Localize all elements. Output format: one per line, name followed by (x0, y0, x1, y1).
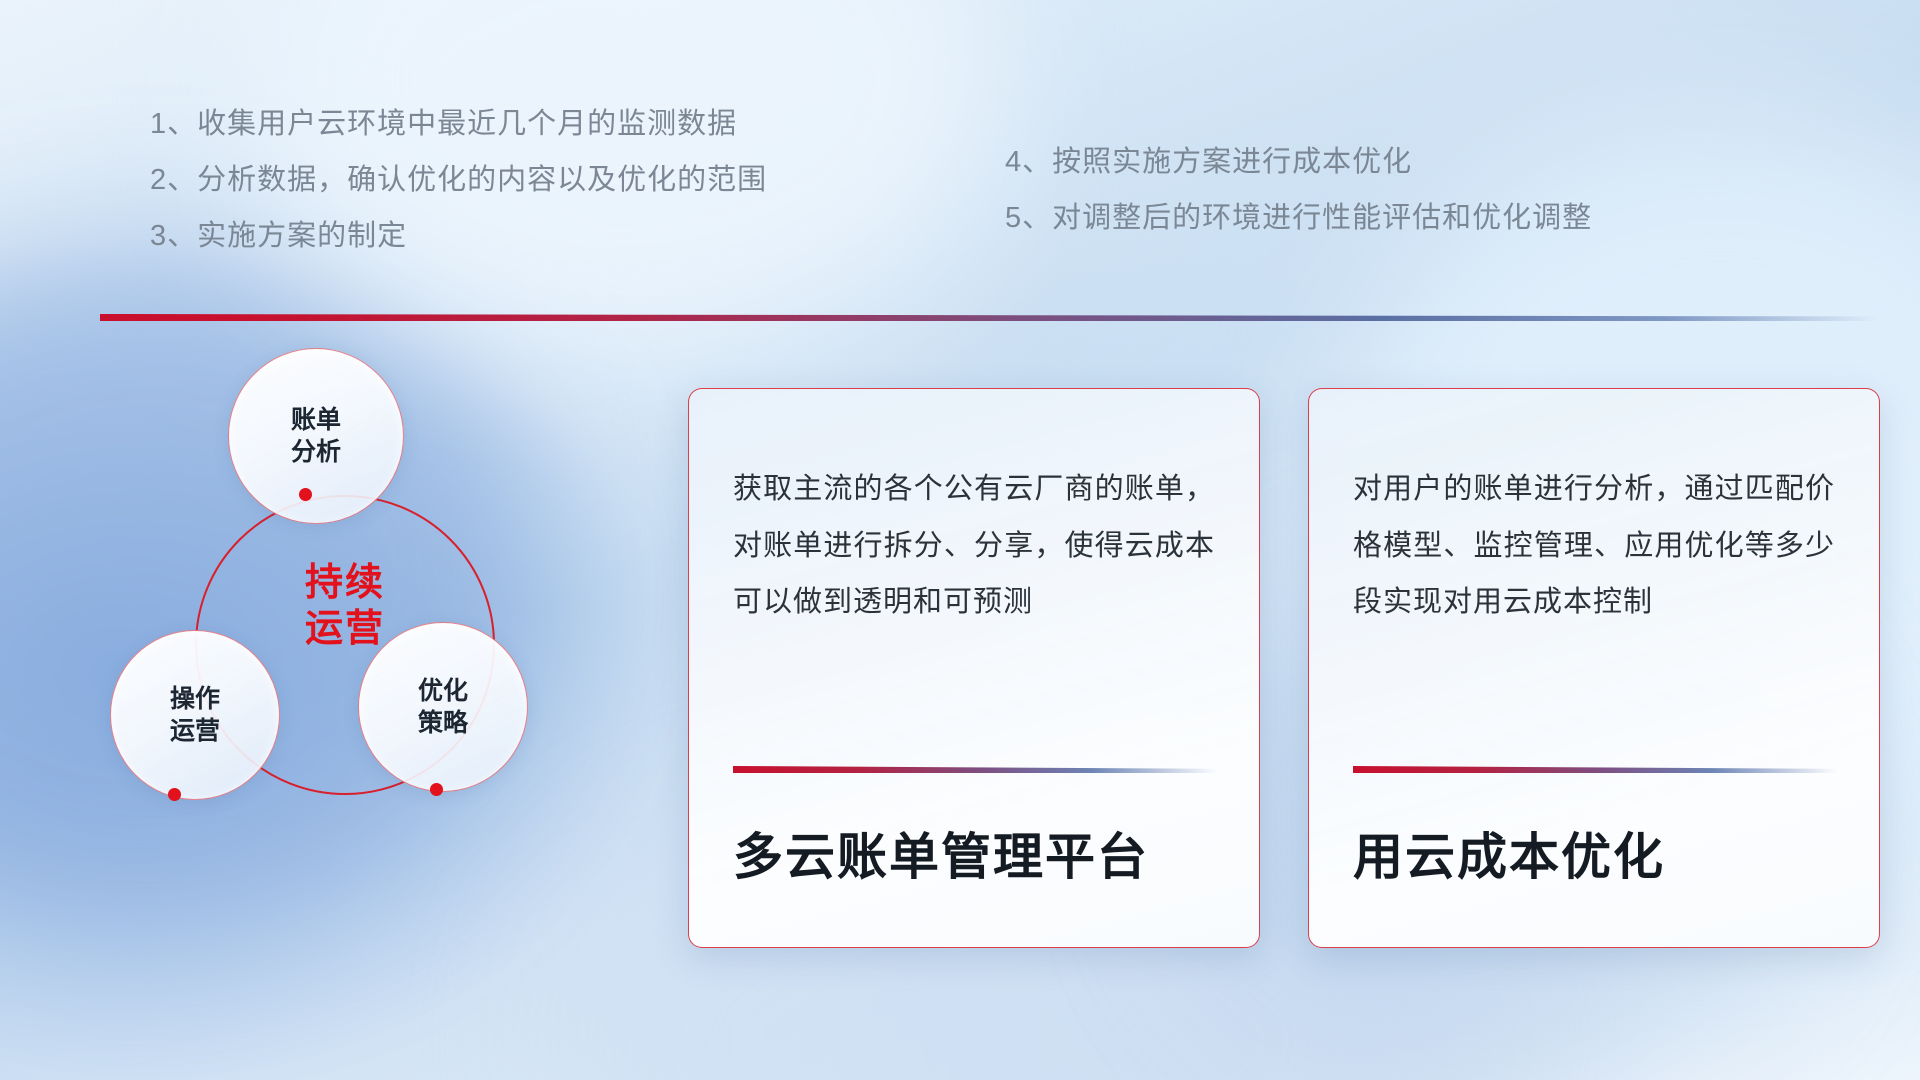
venn-center-label-line2: 运营 (195, 606, 495, 652)
card-title: 多云账单管理平台 (733, 827, 1217, 887)
venn-bubble-label-line2: 运营 (170, 715, 220, 747)
venn-bubble-label-line1: 操作 (170, 683, 220, 715)
step-item: 5、对调整后的环境进行性能评估和优化调整 (1005, 190, 1592, 246)
steps-left-column: 1、收集用户云环境中最近几个月的监测数据 2、分析数据，确认优化的内容以及优化的… (150, 96, 767, 264)
card-accent-rule (1353, 766, 1837, 773)
venn-bubble-label-line2: 策略 (418, 707, 468, 739)
venn-bubble-label-line1: 优化 (418, 675, 468, 707)
section-divider (100, 314, 1880, 321)
venn-bubble-label-line1: 账单 (291, 404, 341, 436)
venn-center-label-line1: 持续 (195, 560, 495, 606)
step-item: 2、分析数据，确认优化的内容以及优化的范围 (150, 152, 767, 208)
card-cloud-cost-optimization[interactable]: 对用户的账单进行分析，通过匹配价格模型、监控管理、应用优化等多少段实现对用云成本… (1308, 388, 1880, 948)
venn-bubble-operations[interactable]: 操作 运营 (110, 630, 280, 800)
card-multicloud-billing[interactable]: 获取主流的各个公有云厂商的账单，对账单进行拆分、分享，使得云成本可以做到透明和可… (688, 388, 1260, 948)
card-accent-rule (733, 766, 1217, 773)
card-title: 用云成本优化 (1353, 827, 1837, 887)
step-item: 1、收集用户云环境中最近几个月的监测数据 (150, 96, 767, 152)
venn-bubble-label-line2: 分析 (291, 436, 341, 468)
venn-node-dot-left (168, 788, 181, 801)
venn-diagram: 持续 运营 账单 分析 操作 运营 优化 策略 (90, 360, 630, 940)
card-body-text: 对用户的账单进行分析，通过匹配价格模型、监控管理、应用优化等多少段实现对用云成本… (1353, 461, 1835, 631)
venn-center-label: 持续 运营 (195, 560, 495, 653)
venn-bubble-bill-analysis[interactable]: 账单 分析 (228, 348, 404, 524)
steps-right-column: 4、按照实施方案进行成本优化 5、对调整后的环境进行性能评估和优化调整 (1005, 134, 1592, 246)
venn-node-dot-top (299, 488, 312, 501)
slide-canvas: 1、收集用户云环境中最近几个月的监测数据 2、分析数据，确认优化的内容以及优化的… (0, 0, 1920, 1080)
step-item: 4、按照实施方案进行成本优化 (1005, 134, 1592, 190)
step-item: 3、实施方案的制定 (150, 208, 767, 264)
venn-node-dot-right (430, 783, 443, 796)
card-body-text: 获取主流的各个公有云厂商的账单，对账单进行拆分、分享，使得云成本可以做到透明和可… (733, 461, 1215, 631)
